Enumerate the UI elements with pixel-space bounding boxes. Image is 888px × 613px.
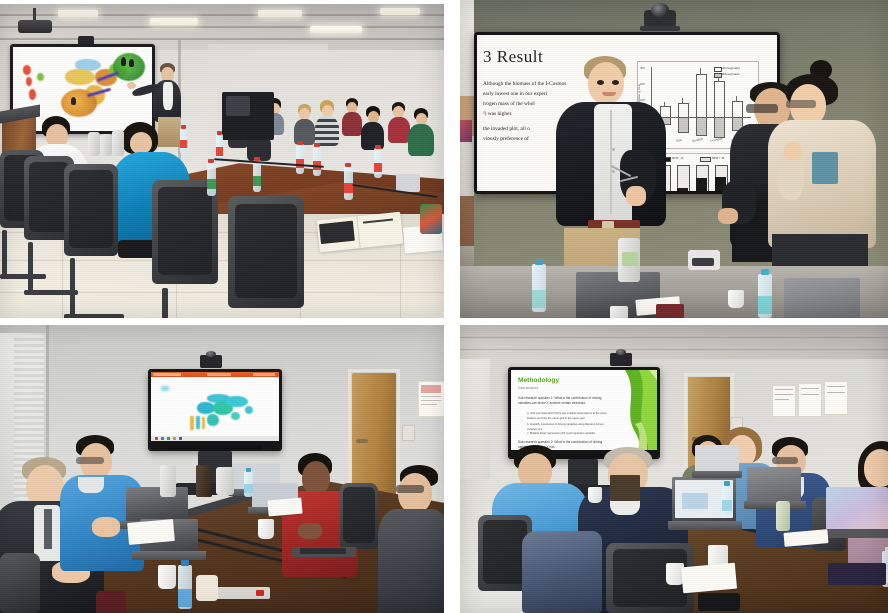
papers: [127, 519, 175, 545]
water-bottle: [207, 162, 216, 196]
water-bottle: [532, 264, 546, 312]
photo-top-left: [0, 4, 444, 318]
slide-bullet: c. Multiple linear regression with most …: [527, 432, 613, 437]
person-partial: [460, 120, 472, 142]
thermos: [112, 130, 124, 156]
slide-question-1: Sub research question 1: What is the con…: [518, 396, 614, 406]
wall-display[interactable]: [148, 369, 282, 451]
photo-top-right: 3 Result Although the biomass of the I-C…: [460, 0, 888, 318]
door-handle[interactable]: [356, 439, 368, 443]
presentation-slide: Methodology Data analyses Sub research q…: [511, 370, 657, 450]
thermos: [160, 465, 176, 497]
slide-bullet: a. Grid type data which there are multip…: [527, 412, 613, 421]
window-light: [460, 359, 490, 479]
ceiling-projector: [18, 20, 52, 33]
wall-notice: [798, 383, 822, 417]
paper-cup: [728, 290, 744, 308]
slide-title: Methodology: [518, 377, 559, 384]
water-bottle: [178, 565, 192, 609]
thermos: [216, 467, 234, 495]
paper-cup: [258, 519, 274, 539]
slide-bullet: b. Quantify importance of driving variab…: [527, 423, 613, 432]
floral-bag: [420, 204, 442, 234]
water-bottle: [344, 166, 353, 200]
wall-poster: [418, 381, 444, 417]
slide-decoration: [605, 370, 657, 450]
water-bottle: [374, 148, 382, 178]
smartphone[interactable]: [698, 593, 740, 611]
eyeglasses: [76, 457, 104, 464]
water-bottle: [244, 471, 253, 497]
tissue: [196, 575, 218, 601]
shirt-pocket: [812, 152, 838, 184]
video-conference-camera: [638, 2, 682, 32]
water-bottle: [758, 274, 772, 318]
browser-toolbar[interactable]: [151, 372, 279, 377]
slide-title: 3 Result: [483, 47, 543, 67]
water-bottle: [313, 146, 321, 176]
papers: [681, 563, 737, 594]
bag-label: [622, 252, 638, 266]
paper-cup: [158, 565, 176, 589]
photo-collage: 3 Result Although the biomass of the I-C…: [0, 0, 888, 613]
wall-notice: [824, 381, 848, 415]
thermos: [100, 134, 112, 156]
wall-notice: [772, 385, 796, 417]
bag: [96, 591, 126, 613]
notebook-dark: [828, 563, 886, 585]
slide-subtitle: Data analyses: [518, 386, 538, 390]
water-bottle: [722, 485, 732, 515]
tea-bottle: [776, 501, 790, 531]
eyeglasses: [772, 457, 798, 464]
photo-bottom-right: Methodology Data analyses Sub research q…: [460, 325, 888, 613]
water-bottle: [253, 160, 261, 192]
eyeglasses: [746, 104, 778, 113]
water-bottle: [180, 128, 187, 154]
light-switch[interactable]: [402, 425, 415, 441]
papers: [267, 498, 302, 517]
water-bottle: [296, 144, 304, 174]
thermos-dark: [196, 465, 212, 497]
tablet-device: [396, 174, 420, 192]
books: [610, 475, 640, 501]
paper-cup: [610, 306, 628, 318]
thermos: [88, 132, 100, 156]
display-screen: [151, 372, 279, 441]
ceiling: [460, 325, 888, 359]
eyeglasses: [396, 485, 424, 493]
photo-bottom-left: [0, 325, 444, 613]
paper-cup: [588, 487, 602, 503]
taskbar[interactable]: [151, 436, 279, 441]
draped-coat: [522, 531, 602, 613]
desk-item: [692, 258, 714, 266]
eyeglasses: [786, 100, 816, 108]
red-folder: [656, 304, 684, 318]
